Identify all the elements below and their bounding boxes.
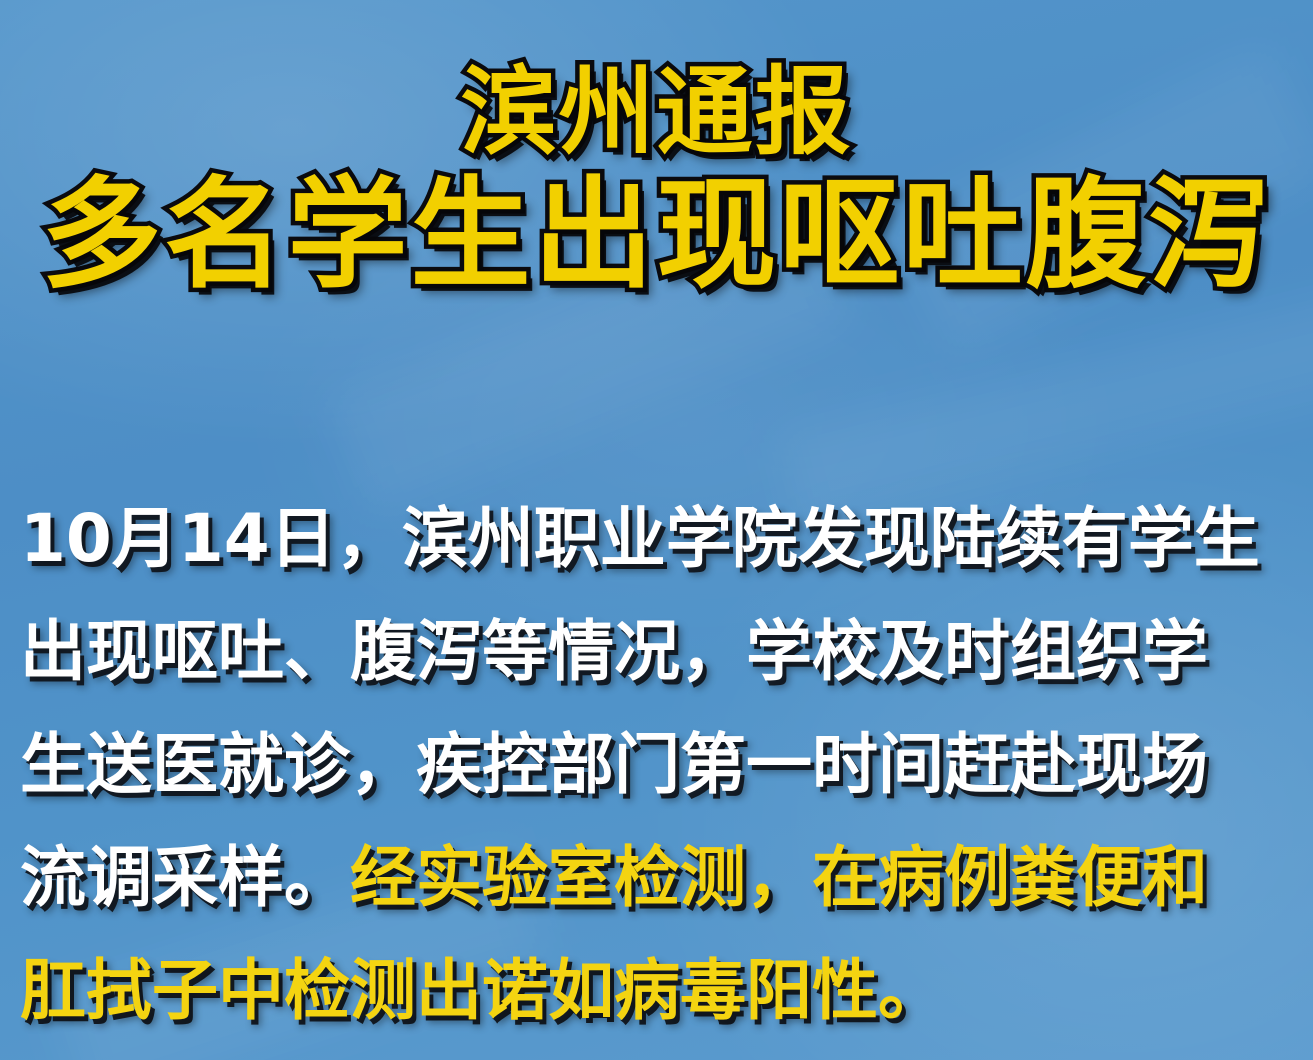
body-text-segment-highlight: 经实验室检测，在病例粪便和 [350, 839, 1208, 916]
headline-block: 滨州通报 多名学生出现呕吐腹泻 [0, 54, 1313, 302]
body-text-segment-highlight: 肛拭子中检测出诺如病毒阳性。 [20, 952, 944, 1029]
body-text-block: 10月14日，滨州职业学院发现陆续有学生 出现呕吐、腹泻等情况，学校及时组织学 … [20, 482, 1295, 1047]
body-text-segment: 出现呕吐、腹泻等情况，学校及时组织学 [20, 613, 1208, 690]
body-line-5: 肛拭子中检测出诺如病毒阳性。 [20, 934, 1295, 1047]
body-line-2: 出现呕吐、腹泻等情况，学校及时组织学 [20, 595, 1295, 708]
body-line-4: 流调采样。经实验室检测，在病例粪便和 [20, 821, 1295, 934]
news-poster: 滨州通报 多名学生出现呕吐腹泻 10月14日，滨州职业学院发现陆续有学生 出现呕… [0, 0, 1313, 1060]
body-line-3: 生送医就诊，疾控部门第一时间赶赴现场 [20, 708, 1295, 821]
headline-line-2: 多名学生出现呕吐腹泻 [0, 170, 1313, 302]
body-text-segment: 生送医就诊，疾控部门第一时间赶赴现场 [20, 726, 1208, 803]
body-text-segment: 流调采样。 [20, 839, 350, 916]
headline-line-1: 滨州通报 [0, 54, 1313, 170]
body-line-1: 10月14日，滨州职业学院发现陆续有学生 [20, 482, 1295, 595]
body-text-segment: 10月14日，滨州职业学院发现陆续有学生 [20, 500, 1260, 577]
